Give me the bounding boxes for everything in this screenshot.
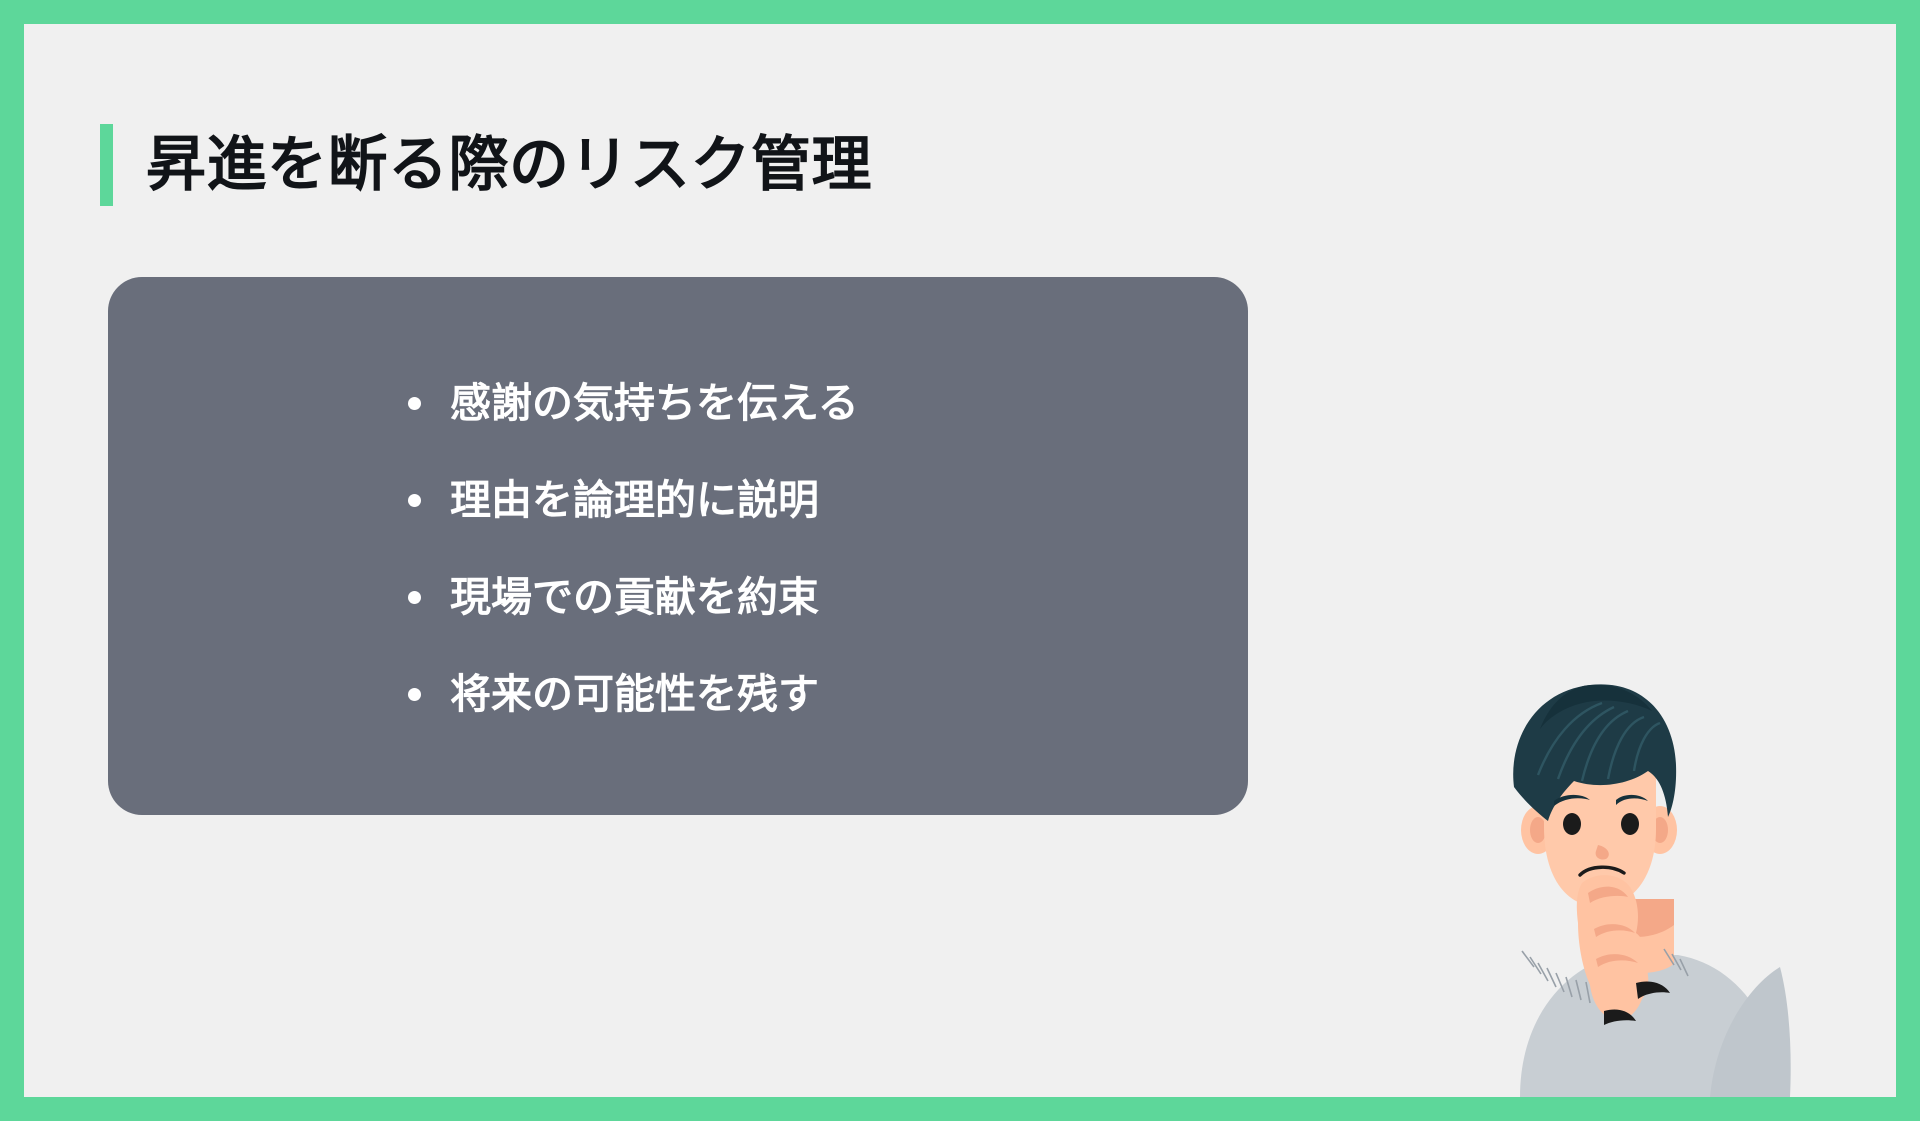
list-item: 感謝の気持ちを伝える xyxy=(408,355,1188,452)
list-item: 将来の可能性を残す xyxy=(408,646,1188,743)
bullet-list: 感謝の気持ちを伝える 理由を論理的に説明 現場での貢献を約束 将来の可能性を残す xyxy=(408,355,1188,743)
bullet-dot-icon xyxy=(408,494,421,507)
list-item: 理由を論理的に説明 xyxy=(408,452,1188,549)
sweater-shape xyxy=(1520,955,1791,1097)
list-item-label: 理由を論理的に説明 xyxy=(450,478,819,523)
list-item: 現場での貢献を約束 xyxy=(408,549,1188,646)
slide-inner-panel: 昇進を断る際のリスク管理 感謝の気持ちを伝える 理由を論理的に説明 現場での貢献… xyxy=(24,24,1896,1097)
slide-root: 昇進を断る際のリスク管理 感謝の気持ちを伝える 理由を論理的に説明 現場での貢献… xyxy=(0,0,1920,1121)
bullet-dot-icon xyxy=(408,591,421,604)
thinking-man-illustration xyxy=(1478,667,1808,1097)
bullet-dot-icon xyxy=(408,397,421,410)
page-title: 昇進を断る際のリスク管理 xyxy=(100,121,872,209)
bullet-dot-icon xyxy=(408,688,421,701)
list-item-label: 感謝の気持ちを伝える xyxy=(450,381,859,426)
title-accent-bar xyxy=(100,124,113,206)
title-label: 昇進を断る際のリスク管理 xyxy=(146,135,872,195)
content-card: 感謝の気持ちを伝える 理由を論理的に説明 現場での貢献を約束 将来の可能性を残す xyxy=(108,277,1248,815)
list-item-label: 将来の可能性を残す xyxy=(450,672,819,717)
list-item-label: 現場での貢献を約束 xyxy=(450,575,819,620)
